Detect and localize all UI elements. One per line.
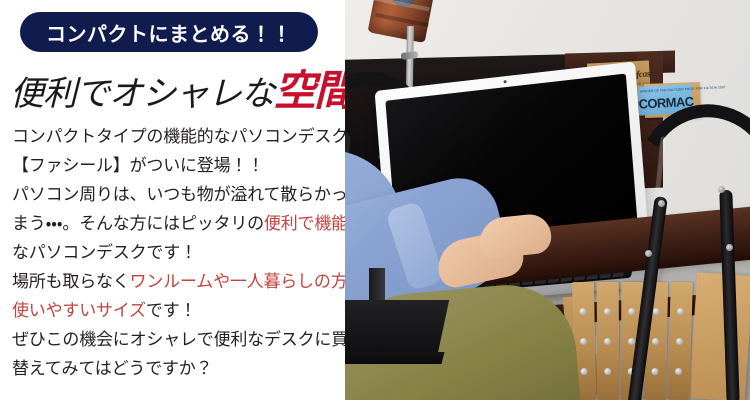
binder-2 <box>597 282 620 400</box>
binder-ring-icon <box>604 368 611 375</box>
body-copy-line-4: まう・・・。そんな方にはピッタリの便利で機能的 <box>12 209 344 238</box>
body-copy: コンパクトタイプの機能的なパソコンデスク【ファシール】がついに登場！！パソコン周… <box>12 122 344 383</box>
desk-screw-4 <box>718 186 725 193</box>
desk-screw-3 <box>726 244 733 251</box>
body-copy-line-2: 【ファシール】がついに登場！！ <box>12 151 344 180</box>
binder-ring-icon <box>628 338 635 345</box>
body-copy-line-8: ぜひこの機会にオシャレで便利なデスクに買い <box>12 325 344 354</box>
body-copy-line-1: コンパクトタイプの機能的なパソコンデスク <box>12 122 344 151</box>
binder-5 <box>667 282 693 400</box>
binder-large <box>689 272 750 400</box>
binder-ring-icon <box>675 368 682 375</box>
binder-ring-icon <box>676 338 683 345</box>
body-copy-text: ぜひこの機会にオシャレで便利なデスクに買い <box>12 330 365 349</box>
body-copy-highlight: 使いやすいサイズ <box>12 301 146 320</box>
product-photo: Daddy's Briefcase A STORY ABOUT LIFE AND… <box>345 0 750 400</box>
body-copy-line-9: 替えてみてはどうですか？ <box>12 354 344 383</box>
binder-ring-icon <box>580 338 587 345</box>
body-copy-text: 【ファシール】がついに登場！！ <box>12 156 264 175</box>
body-copy-line-7: 使いやすいサイズです！ <box>12 296 344 325</box>
office-chair-base <box>345 300 449 358</box>
desk-screw-2 <box>658 200 665 207</box>
promo-banner: コンパクトにまとめる！！ 便利でオシャレな 空間！ コンパクトタイプの機能的なパ… <box>0 0 750 400</box>
binder-ring-icon <box>652 308 659 315</box>
binder-ring-icon <box>651 368 658 375</box>
binder-ring-icon <box>579 308 586 315</box>
binder-ring-icon <box>677 308 684 315</box>
body-copy-line-6: 場所も取らなくワンルームや一人暮らしの方にも <box>12 267 344 296</box>
body-copy-text: パソコン周りは、いつも物が溢れて散らかってし <box>12 185 380 204</box>
laptop-webcam-icon <box>504 80 507 83</box>
body-copy-text: 替えてみてはどうですか？ <box>12 359 212 378</box>
binder-ring-icon <box>628 308 635 315</box>
desk-screw-1 <box>645 250 652 257</box>
page-title: 便利でオシャレな 空間！ <box>10 66 345 112</box>
body-copy-text: 場所も取らなく <box>12 272 130 291</box>
binder-ring-icon <box>580 368 587 375</box>
badge-compact: コンパクトにまとめる！！ <box>20 12 318 52</box>
body-copy-line-3: パソコン周りは、いつも物が溢れて散らかってし <box>12 180 344 209</box>
body-copy-text: コンパクトタイプの機能的なパソコンデスク <box>12 127 348 146</box>
binder-ring-icon <box>652 338 659 345</box>
badge-label: コンパクトにまとめる！！ <box>46 18 292 47</box>
body-copy-line-5: なパソコンデスクです！ <box>12 238 344 267</box>
book-cormac-band: WINNER OF THE PULITZER PRIZE FOR FICTION… <box>640 87 690 94</box>
body-copy-text: なパソコンデスクです！ <box>12 243 197 262</box>
binder-ring-icon <box>604 338 611 345</box>
binder-ring-icon <box>604 308 611 315</box>
body-copy-highlight: ワンルームや一人暮らしの方にも <box>130 272 382 291</box>
body-copy-text: まう・・・。そんな方にはピッタリの <box>12 214 264 233</box>
office-chair-foot <box>345 352 444 364</box>
headline-dark-text: 便利でオシャレな <box>10 66 274 115</box>
copy-panel: コンパクトにまとめる！！ 便利でオシャレな 空間！ コンパクトタイプの機能的なパ… <box>0 0 345 400</box>
body-copy-text: です！ <box>146 301 196 320</box>
